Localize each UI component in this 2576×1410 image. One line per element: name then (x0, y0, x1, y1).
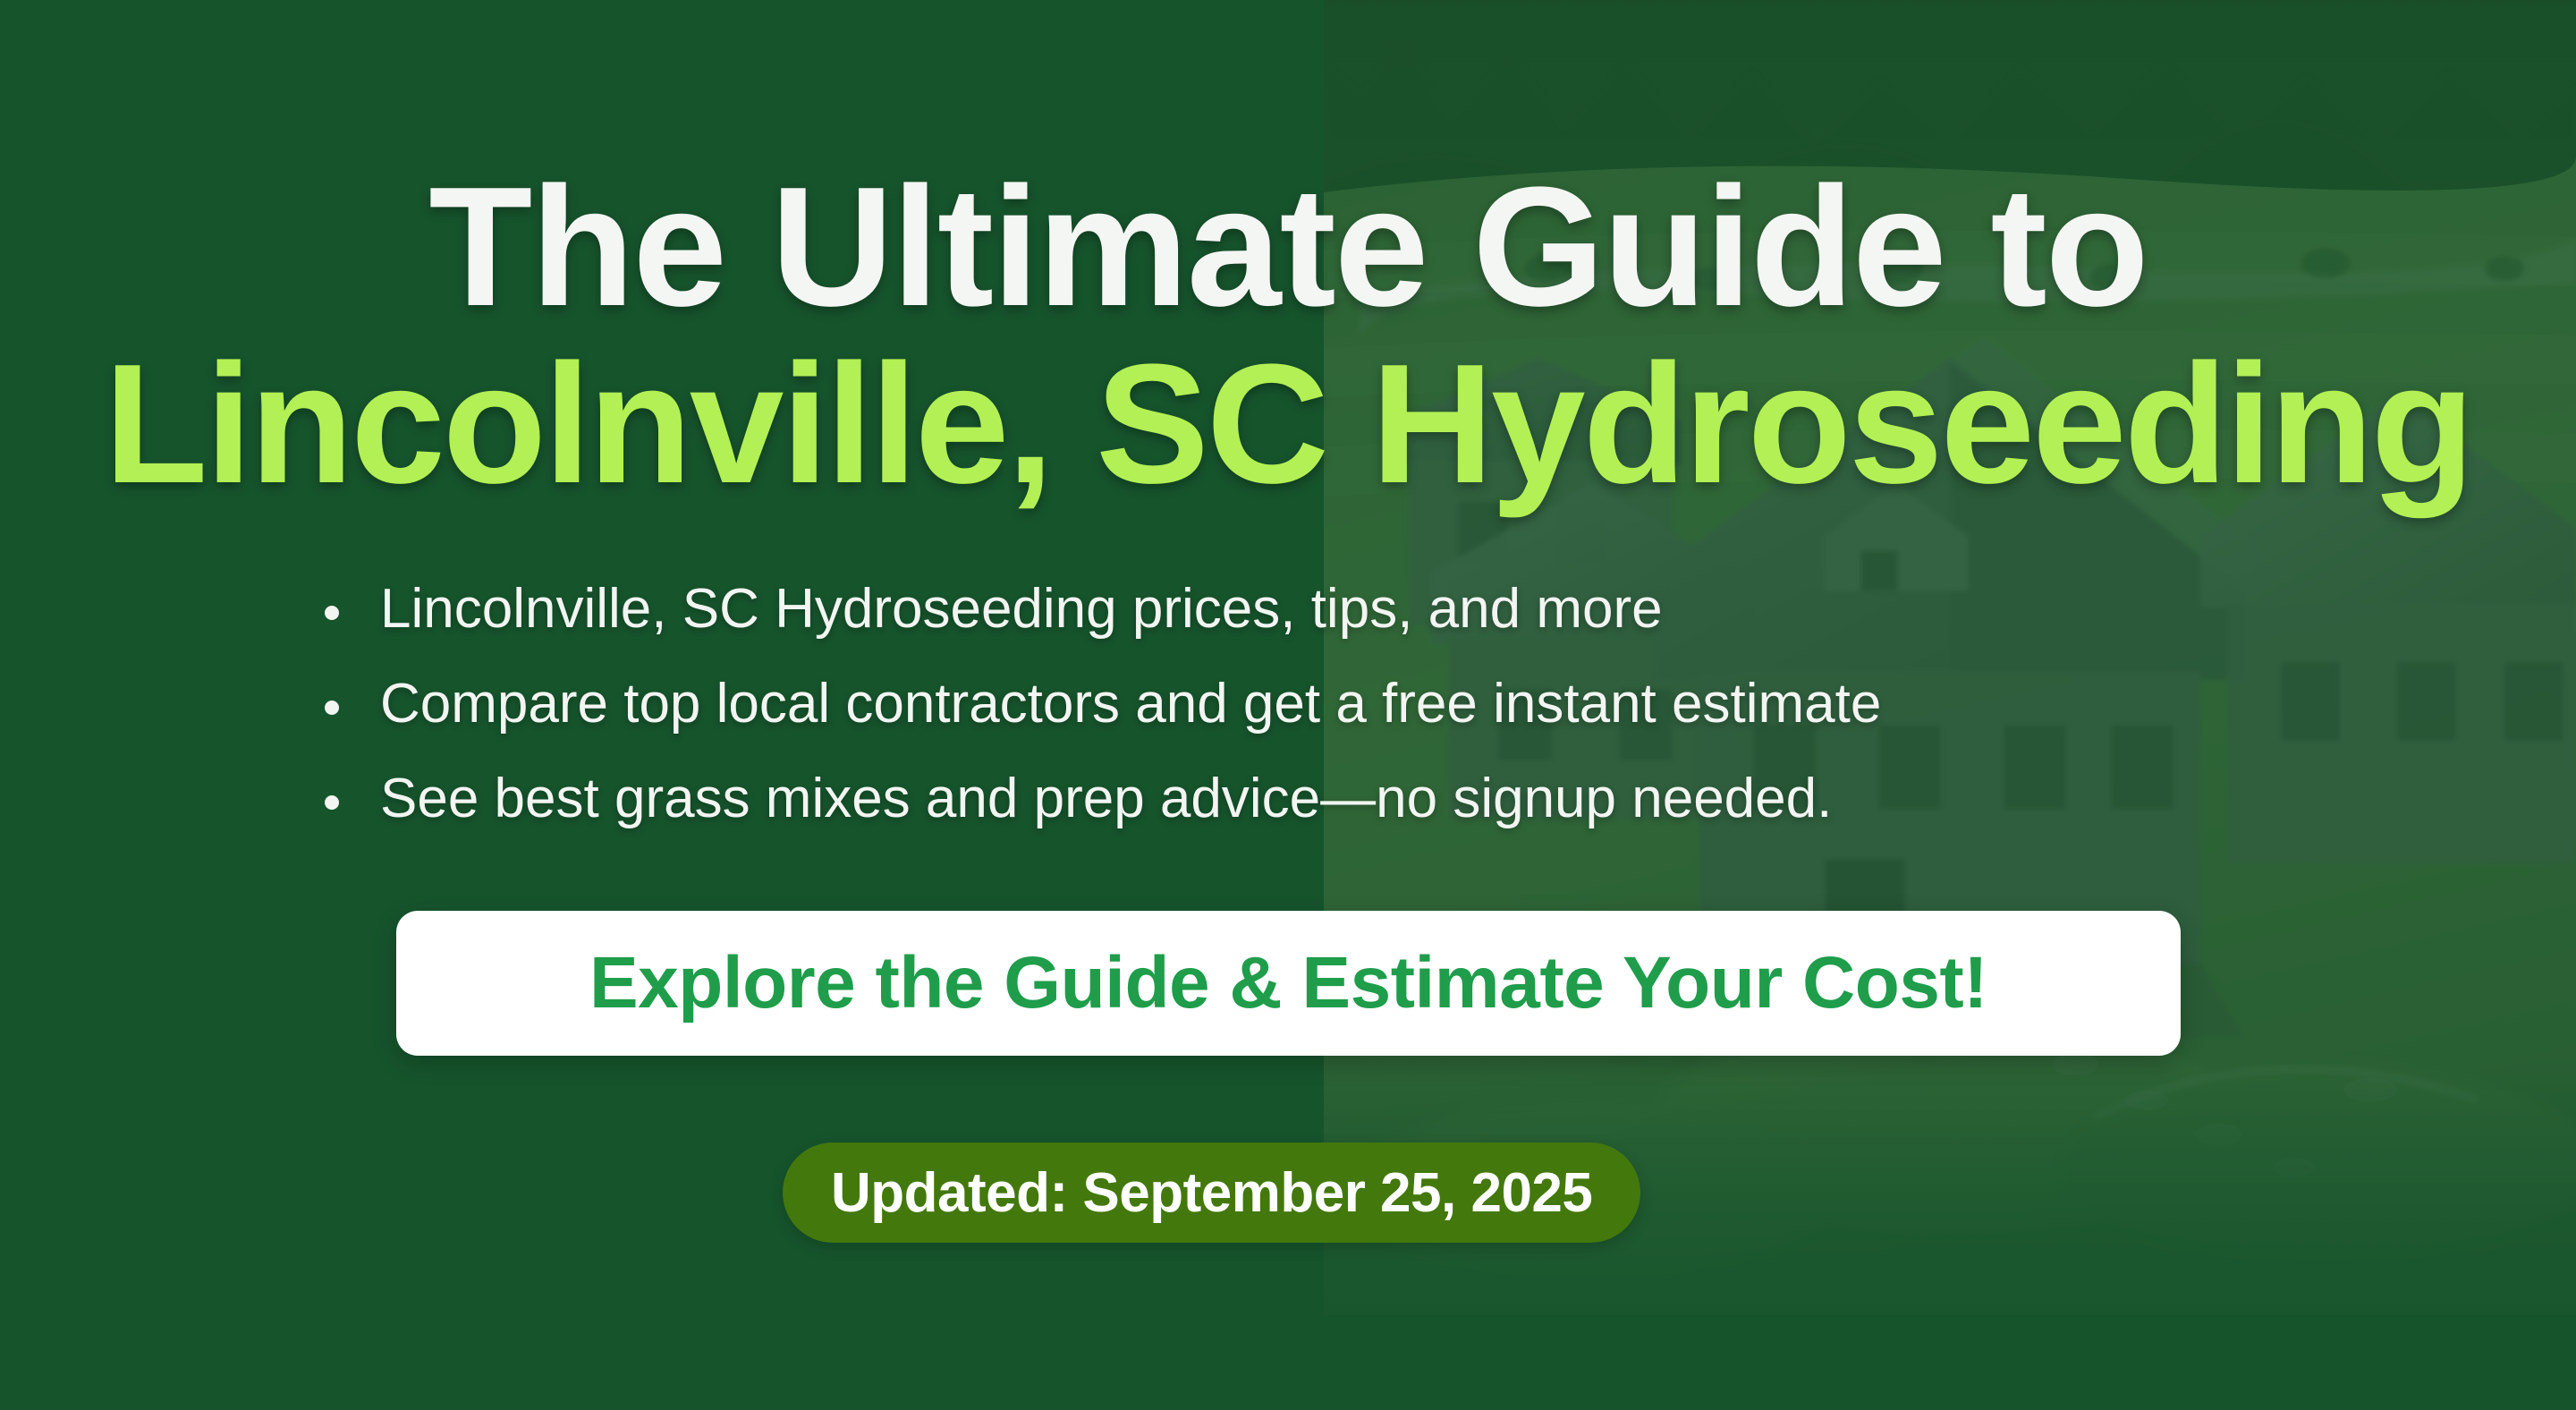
updated-date-label: Updated: September 25, 2025 (831, 1161, 1592, 1225)
explore-guide-cta-button[interactable]: Explore the Guide & Estimate Your Cost! (396, 911, 2181, 1056)
list-item: See best grass mixes and prep advice—no … (318, 771, 2285, 827)
updated-date-badge: Updated: September 25, 2025 (783, 1142, 1640, 1243)
list-item: Compare top local contractors and get a … (318, 676, 2285, 732)
list-item-label: See best grass mixes and prep advice—no … (380, 768, 1832, 829)
page-title: The Ultimate Guide to Lincolnville, SC H… (0, 159, 2576, 513)
headline-line-1: The Ultimate Guide to (0, 159, 2576, 336)
bullet-dot-icon (325, 795, 339, 810)
headline-line-2: Lincolnville, SC Hydroseeding (0, 336, 2576, 514)
cta-button-label: Explore the Guide & Estimate Your Cost! (589, 941, 1987, 1025)
hero-banner: The Ultimate Guide to Lincolnville, SC H… (0, 0, 2576, 1410)
list-item-label: Compare top local contractors and get a … (380, 673, 1881, 735)
list-item-label: Lincolnville, SC Hydroseeding prices, ti… (380, 578, 1663, 640)
bullet-dot-icon (325, 701, 339, 715)
banner-content: The Ultimate Guide to Lincolnville, SC H… (0, 0, 2576, 1410)
bullet-dot-icon (325, 606, 339, 620)
list-item: Lincolnville, SC Hydroseeding prices, ti… (318, 582, 2285, 637)
feature-bullet-list: Lincolnville, SC Hydroseeding prices, ti… (318, 582, 2285, 866)
